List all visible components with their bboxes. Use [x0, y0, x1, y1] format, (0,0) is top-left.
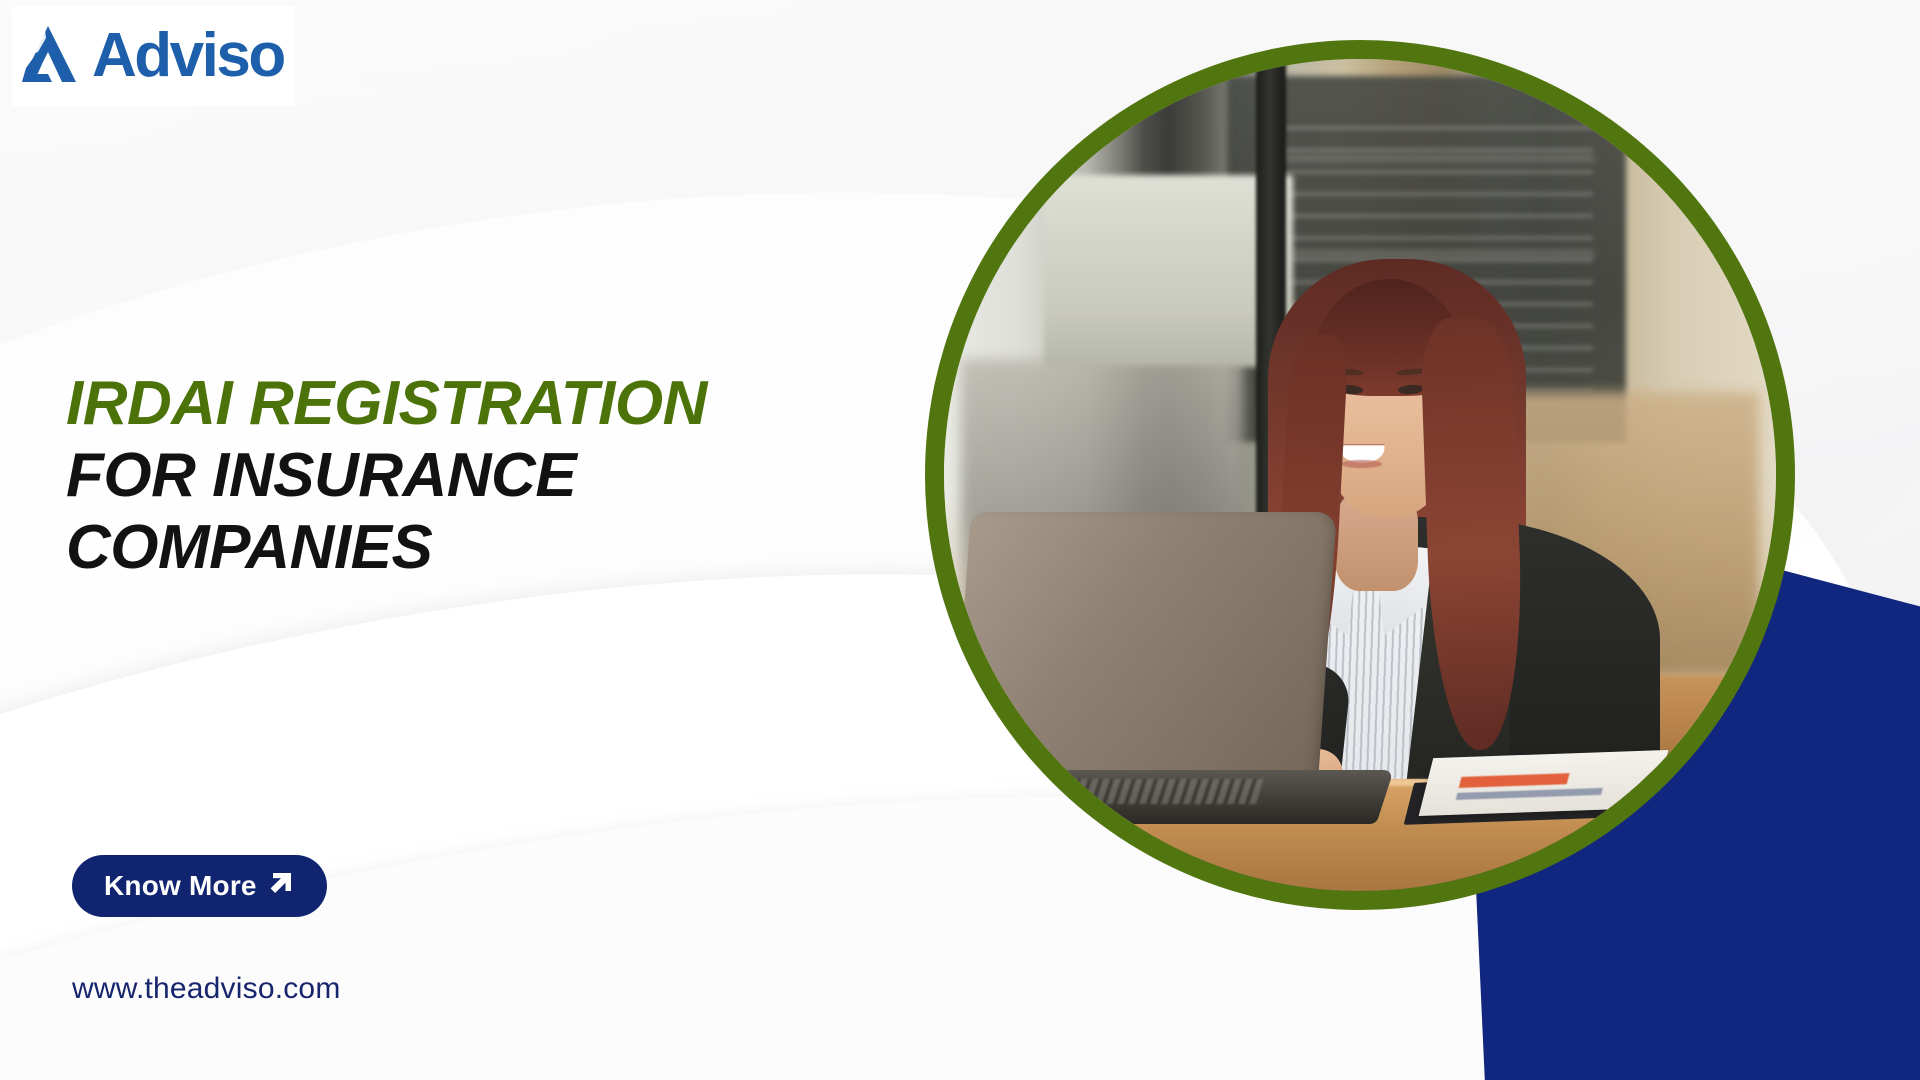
hero-photo — [944, 59, 1776, 891]
brand-logo[interactable]: Adviso — [12, 6, 294, 106]
know-more-label: Know More — [104, 872, 257, 900]
adviso-mountain-mark — [18, 24, 94, 88]
headline-line-3: COMPANIES — [66, 512, 946, 584]
marketing-banner: Adviso IRDAI REGISTRATION FOR INSURANCE … — [0, 0, 1920, 1080]
headline-line-1: IRDAI REGISTRATION — [66, 368, 946, 440]
photo-scene — [944, 59, 1776, 891]
laptop-screen — [951, 512, 1337, 795]
logo-wordmark: Adviso — [92, 25, 284, 87]
arrow-down-right-icon — [267, 871, 297, 901]
website-url[interactable]: www.theadviso.com — [72, 972, 341, 1006]
papers-on-desk — [1418, 750, 1668, 816]
know-more-button[interactable]: Know More — [72, 855, 327, 917]
laptop-keyboard — [1006, 779, 1264, 804]
hero-photo-ring — [925, 40, 1795, 910]
headline-line-2: FOR INSURANCE — [66, 440, 946, 512]
headline: IRDAI REGISTRATION FOR INSURANCE COMPANI… — [66, 368, 946, 584]
